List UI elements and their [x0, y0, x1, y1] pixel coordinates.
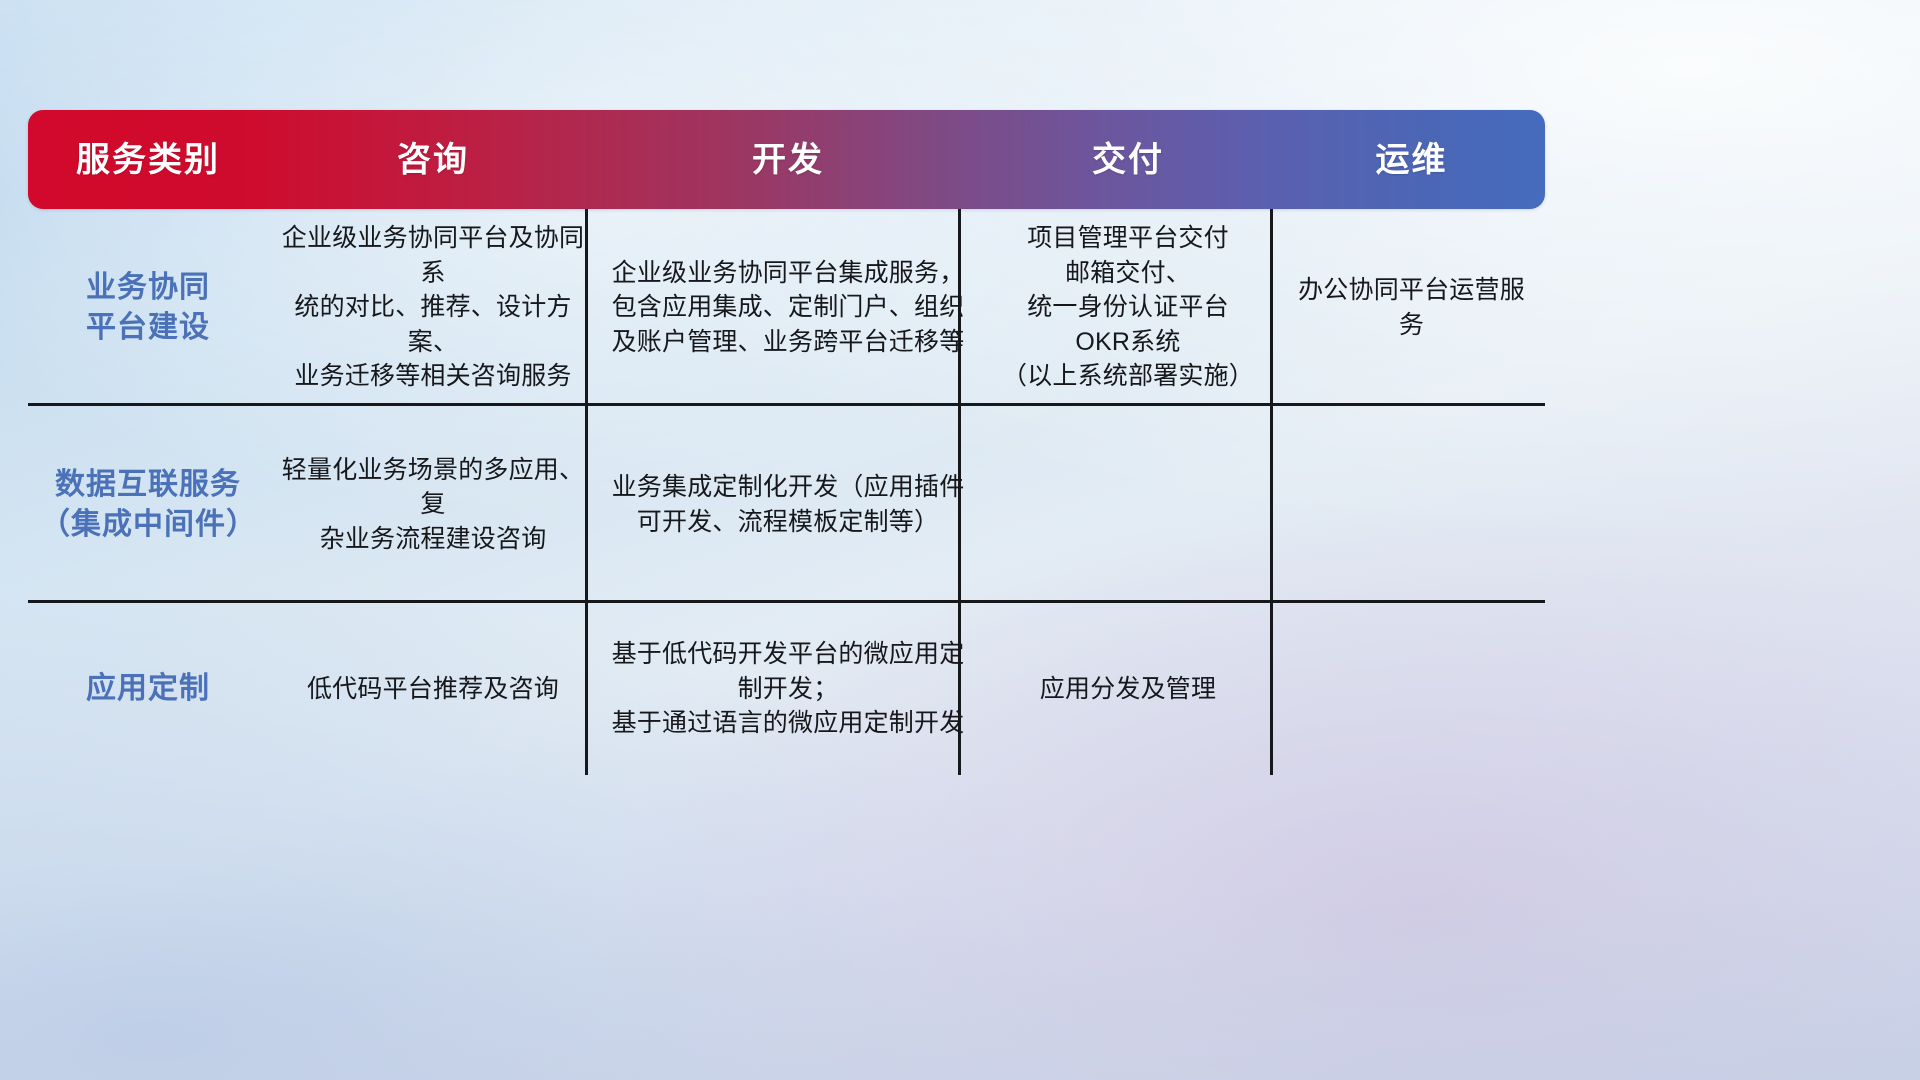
table-header-row: 服务类别 咨询 开发 交付 运维	[28, 110, 1545, 209]
cell-text: 基于低代码开发平台的微应用定 制开发； 基于通过语言的微应用定制开发	[612, 637, 965, 741]
row-category-label: 业务协同 平台建设	[28, 209, 268, 406]
cell-development: 业务集成定制化开发（应用插件 可开发、流程模板定制等）	[598, 406, 978, 603]
cell-consulting: 低代码平台推荐及咨询	[268, 603, 598, 775]
cell-operations	[1278, 603, 1545, 775]
table-row: 业务协同 平台建设 企业级业务协同平台及协同系 统的对比、推荐、设计方案、 业务…	[28, 209, 1545, 406]
cell-text: 项目管理平台交付 邮箱交付、 统一身份认证平台 OKR系统 （以上系统部署实施）	[1002, 221, 1254, 394]
cell-text: 轻量化业务场景的多应用、复 杂业务流程建设咨询	[280, 453, 586, 557]
row-category-label: 数据互联服务 （集成中间件）	[28, 406, 268, 603]
column-header-delivery: 交付	[978, 143, 1278, 177]
cell-text: 企业级业务协同平台集成服务， 包含应用集成、定制门户、组织 及账户管理、业务跨平…	[612, 256, 965, 360]
cell-development: 基于低代码开发平台的微应用定 制开发； 基于通过语言的微应用定制开发	[598, 603, 978, 775]
cell-text: 业务集成定制化开发（应用插件 可开发、流程模板定制等）	[612, 470, 965, 539]
cell-text: 办公协同平台运营服务	[1290, 273, 1533, 342]
row-category-label: 应用定制	[28, 603, 268, 775]
cell-consulting: 企业级业务协同平台及协同系 统的对比、推荐、设计方案、 业务迁移等相关咨询服务	[268, 209, 598, 406]
category-text: 业务协同 平台建设	[86, 268, 210, 347]
cell-delivery: 项目管理平台交付 邮箱交付、 统一身份认证平台 OKR系统 （以上系统部署实施）	[978, 209, 1278, 406]
column-header-development: 开发	[598, 143, 978, 177]
cell-development: 企业级业务协同平台集成服务， 包含应用集成、定制门户、组织 及账户管理、业务跨平…	[598, 209, 978, 406]
table-row: 应用定制 低代码平台推荐及咨询 基于低代码开发平台的微应用定 制开发； 基于通过…	[28, 603, 1545, 775]
cell-text: 低代码平台推荐及咨询	[307, 672, 559, 707]
column-header-category: 服务类别	[28, 143, 268, 177]
table-body: 业务协同 平台建设 企业级业务协同平台及协同系 统的对比、推荐、设计方案、 业务…	[28, 209, 1545, 775]
category-text: 应用定制	[86, 669, 210, 709]
service-matrix-table: 服务类别 咨询 开发 交付 运维 业务协同 平台建设 企业级业务协同平台及协同系…	[28, 110, 1545, 775]
cell-operations: 办公协同平台运营服务	[1278, 209, 1545, 406]
column-header-consulting: 咨询	[268, 143, 598, 177]
category-text: 数据互联服务 （集成中间件）	[40, 465, 256, 544]
cell-operations	[1278, 406, 1545, 603]
cell-delivery: 应用分发及管理	[978, 603, 1278, 775]
column-header-operations: 运维	[1278, 143, 1545, 177]
cell-delivery	[978, 406, 1278, 603]
table-row: 数据互联服务 （集成中间件） 轻量化业务场景的多应用、复 杂业务流程建设咨询 业…	[28, 406, 1545, 603]
cell-consulting: 轻量化业务场景的多应用、复 杂业务流程建设咨询	[268, 406, 598, 603]
cell-text: 企业级业务协同平台及协同系 统的对比、推荐、设计方案、 业务迁移等相关咨询服务	[280, 221, 586, 394]
cell-text: 应用分发及管理	[1040, 672, 1216, 707]
